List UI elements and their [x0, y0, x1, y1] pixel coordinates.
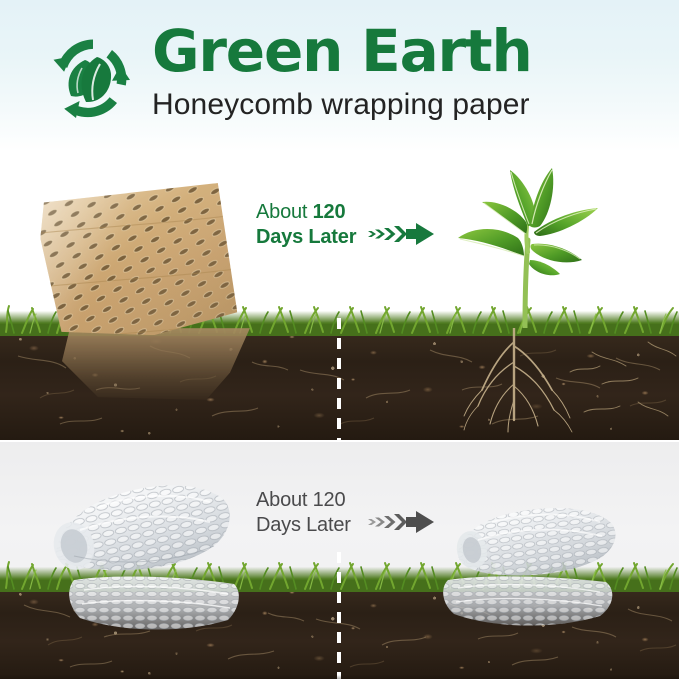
- page-subtitle: Honeycomb wrapping paper: [152, 88, 530, 122]
- time-label-top-line2: Days Later: [256, 225, 356, 250]
- time-label-top: About 120 Days Later: [256, 200, 356, 250]
- plastic-bubble-wrap-roll-left: [34, 472, 252, 582]
- plastic-bubble-wrap-flattened-left: [62, 574, 252, 642]
- panel-separator: [0, 440, 679, 442]
- vertical-dashed-divider-bottom: [337, 552, 341, 679]
- time-label-top-days: 120: [313, 201, 346, 223]
- page-title: Green Earth: [152, 22, 532, 80]
- time-label-bottom-prefix: About: [256, 489, 313, 511]
- infographic-page: Green Earth Honeycomb wrapping paper: [0, 0, 679, 679]
- honeycomb-paper-biodegradation-panel: About 120 Days Later: [0, 152, 679, 440]
- recycle-leaves-icon: [38, 30, 142, 126]
- header-banner: Green Earth Honeycomb wrapping paper: [0, 0, 679, 152]
- time-label-top-line1: About 120: [256, 200, 356, 225]
- time-label-bottom: About 120 Days Later: [256, 488, 351, 538]
- time-label-bottom-days: 120: [313, 489, 346, 511]
- plastic-bubble-wrap-roll-right: [444, 496, 634, 584]
- plastic-bubble-wrap-panel: About 120 Days Later: [0, 440, 679, 679]
- right-arrow-with-chevrons-icon-bottom: [366, 502, 436, 542]
- vertical-dashed-divider-top: [337, 318, 341, 440]
- seedling-plant: [452, 160, 652, 328]
- time-label-bottom-line1: About 120: [256, 488, 351, 513]
- time-label-top-prefix: About: [256, 201, 313, 223]
- seedling-roots: [452, 328, 679, 436]
- honeycomb-kraft-paper-sheet: [38, 182, 239, 341]
- time-label-bottom-line2: Days Later: [256, 513, 351, 538]
- right-arrow-with-chevrons-icon-top: [366, 214, 436, 254]
